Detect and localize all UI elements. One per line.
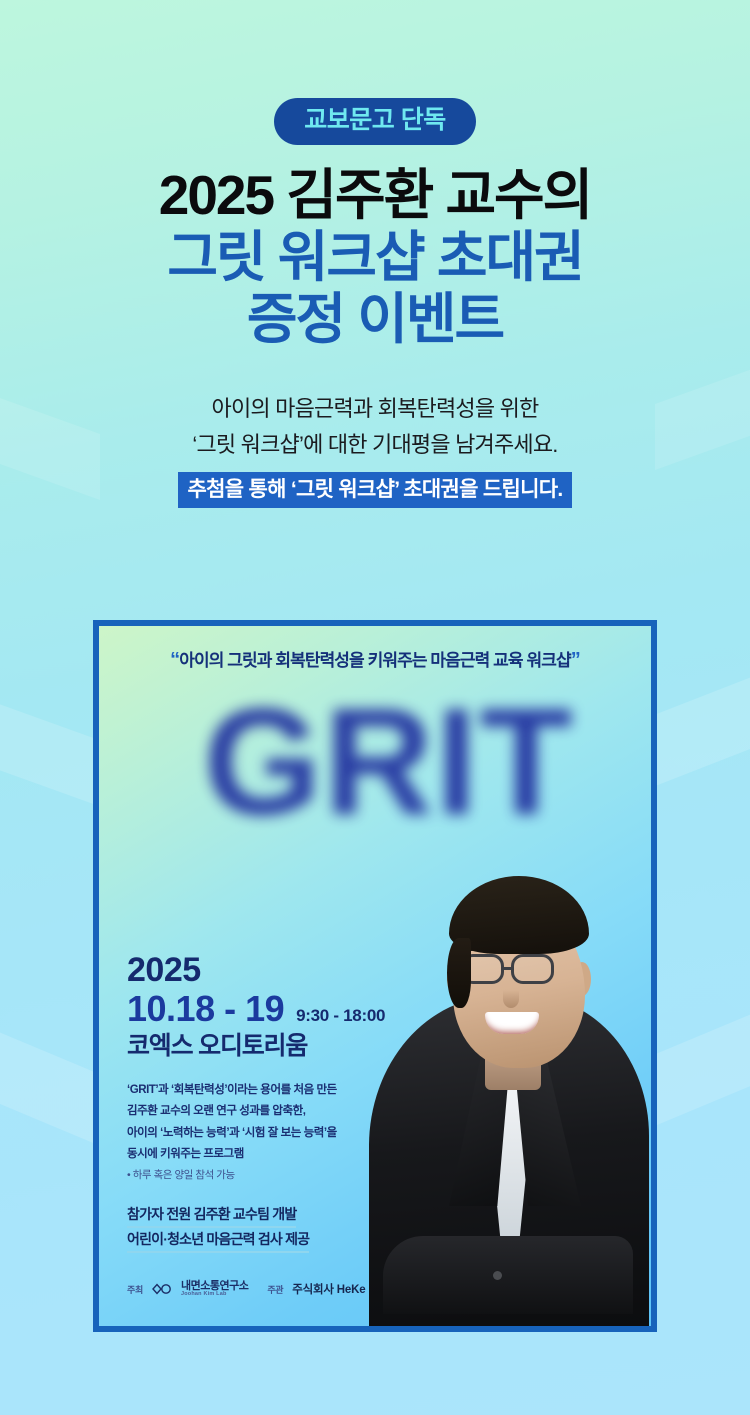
event-poster: “아이의 그릿과 회복탄력성을 키워주는 마음근력 교육 워크샵” GRIT 2… xyxy=(93,620,657,1332)
speaker-nose xyxy=(503,990,519,1008)
poster-quote: “아이의 그릿과 회복탄력성을 키워주는 마음근력 교육 워크샵” xyxy=(99,646,651,672)
offer-line-2: 어린이·청소년 마음근력 검사 제공 xyxy=(127,1228,309,1253)
event-date-row: 10.18 - 19 9:30 - 18:00 xyxy=(127,990,457,1029)
host-logo-text: 내면소통연구소 Joohan Kim Lab xyxy=(181,1281,248,1298)
fine-print-line-2: 김주환 교수의 오랜 연구 성과를 압축한, xyxy=(127,1101,457,1122)
organizer-label: 주관 xyxy=(267,1283,283,1296)
naemyeon-logo-icon xyxy=(152,1283,172,1295)
description-line-2: ‘그릿 워크샵’에 대한 기대평을 남겨주세요. xyxy=(0,427,750,463)
speaker-jacket-button xyxy=(493,1271,502,1280)
event-venue: 코엑스 오디토리움 xyxy=(127,1033,457,1061)
poster-credits: 주최 내면소통연구소 Joohan Kim Lab 주관 주식회사 HeKe xyxy=(127,1281,457,1298)
promo-description: 아이의 마음근력과 회복탄력성을 위한 ‘그릿 워크샵’에 대한 기대평을 남겨… xyxy=(0,391,750,507)
event-time: 9:30 - 18:00 xyxy=(296,1006,385,1026)
event-promo-page: { "theme": { "bg_top": "#bdf6de", "bg_bo… xyxy=(0,0,750,1415)
poster-info-block: 2025 10.18 - 19 9:30 - 18:00 코엑스 오디토리움 ‘… xyxy=(127,952,457,1298)
fine-print-line-1: ‘GRIT’과 ‘회복탄력성’이라는 용어를 처음 만든 xyxy=(127,1080,457,1101)
offer-line-1: 참가자 전원 김주환 교수팀 개발 xyxy=(127,1203,296,1228)
quote-text: 아이의 그릿과 회복탄력성을 키워주는 마음근력 교육 워크샵 xyxy=(179,651,570,670)
title-line-3: 증정 이벤트 xyxy=(0,291,750,347)
title-line-2: 그릿 워크샵 초대권 xyxy=(0,229,750,285)
chevron-watermark-right-1 xyxy=(645,660,750,790)
poster-offer-block: 참가자 전원 김주환 교수팀 개발 어린이·청소년 마음근력 검사 제공 xyxy=(127,1203,457,1252)
glasses-lens-right xyxy=(511,954,554,984)
exclusive-badge: 교보문고 단독 xyxy=(274,98,475,145)
highlight-wrapper: 추첨을 통해 ‘그릿 워크샵’ 초대권을 드립니다. xyxy=(0,472,750,508)
event-year: 2025 xyxy=(127,952,457,989)
organizer-name: 주식회사 HeKe xyxy=(292,1281,365,1297)
description-line-1: 아이의 마음근력과 회복탄력성을 위한 xyxy=(0,391,750,427)
title-line-1: 2025 김주환 교수의 xyxy=(0,167,750,223)
fine-print-line-4: 동시에 키워주는 프로그램 • 하루 혹은 양일 참석 가능 xyxy=(127,1144,457,1187)
highlight-banner: 추첨을 통해 ‘그릿 워크샵’ 초대권을 드립니다. xyxy=(178,472,571,508)
quote-close-mark: ” xyxy=(571,649,580,671)
fine-print-note: • 하루 혹은 양일 참석 가능 xyxy=(127,1169,235,1181)
fine-print-last-text: 동시에 키워주는 프로그램 xyxy=(127,1144,457,1165)
host-label: 주최 xyxy=(127,1283,143,1296)
chevron-watermark-right-2 xyxy=(645,1000,750,1130)
page-title: 2025 김주환 교수의 그릿 워크샵 초대권 증정 이벤트 xyxy=(0,167,750,347)
host-sub-name: Joohan Kim Lab xyxy=(181,1292,248,1298)
poster-fine-print: ‘GRIT’과 ‘회복탄력성’이라는 용어를 처음 만든 김주환 교수의 오랜 … xyxy=(127,1080,457,1186)
event-date: 10.18 - 19 xyxy=(127,990,284,1029)
fine-print-line-3: 아이의 ‘노력하는 능력’과 ‘시험 잘 보는 능력’을 xyxy=(127,1123,457,1144)
promo-header: 교보문고 단독 2025 김주환 교수의 그릿 워크샵 초대권 증정 이벤트 아… xyxy=(0,0,750,508)
glasses-bridge xyxy=(504,967,514,970)
quote-open-mark: “ xyxy=(170,649,179,671)
